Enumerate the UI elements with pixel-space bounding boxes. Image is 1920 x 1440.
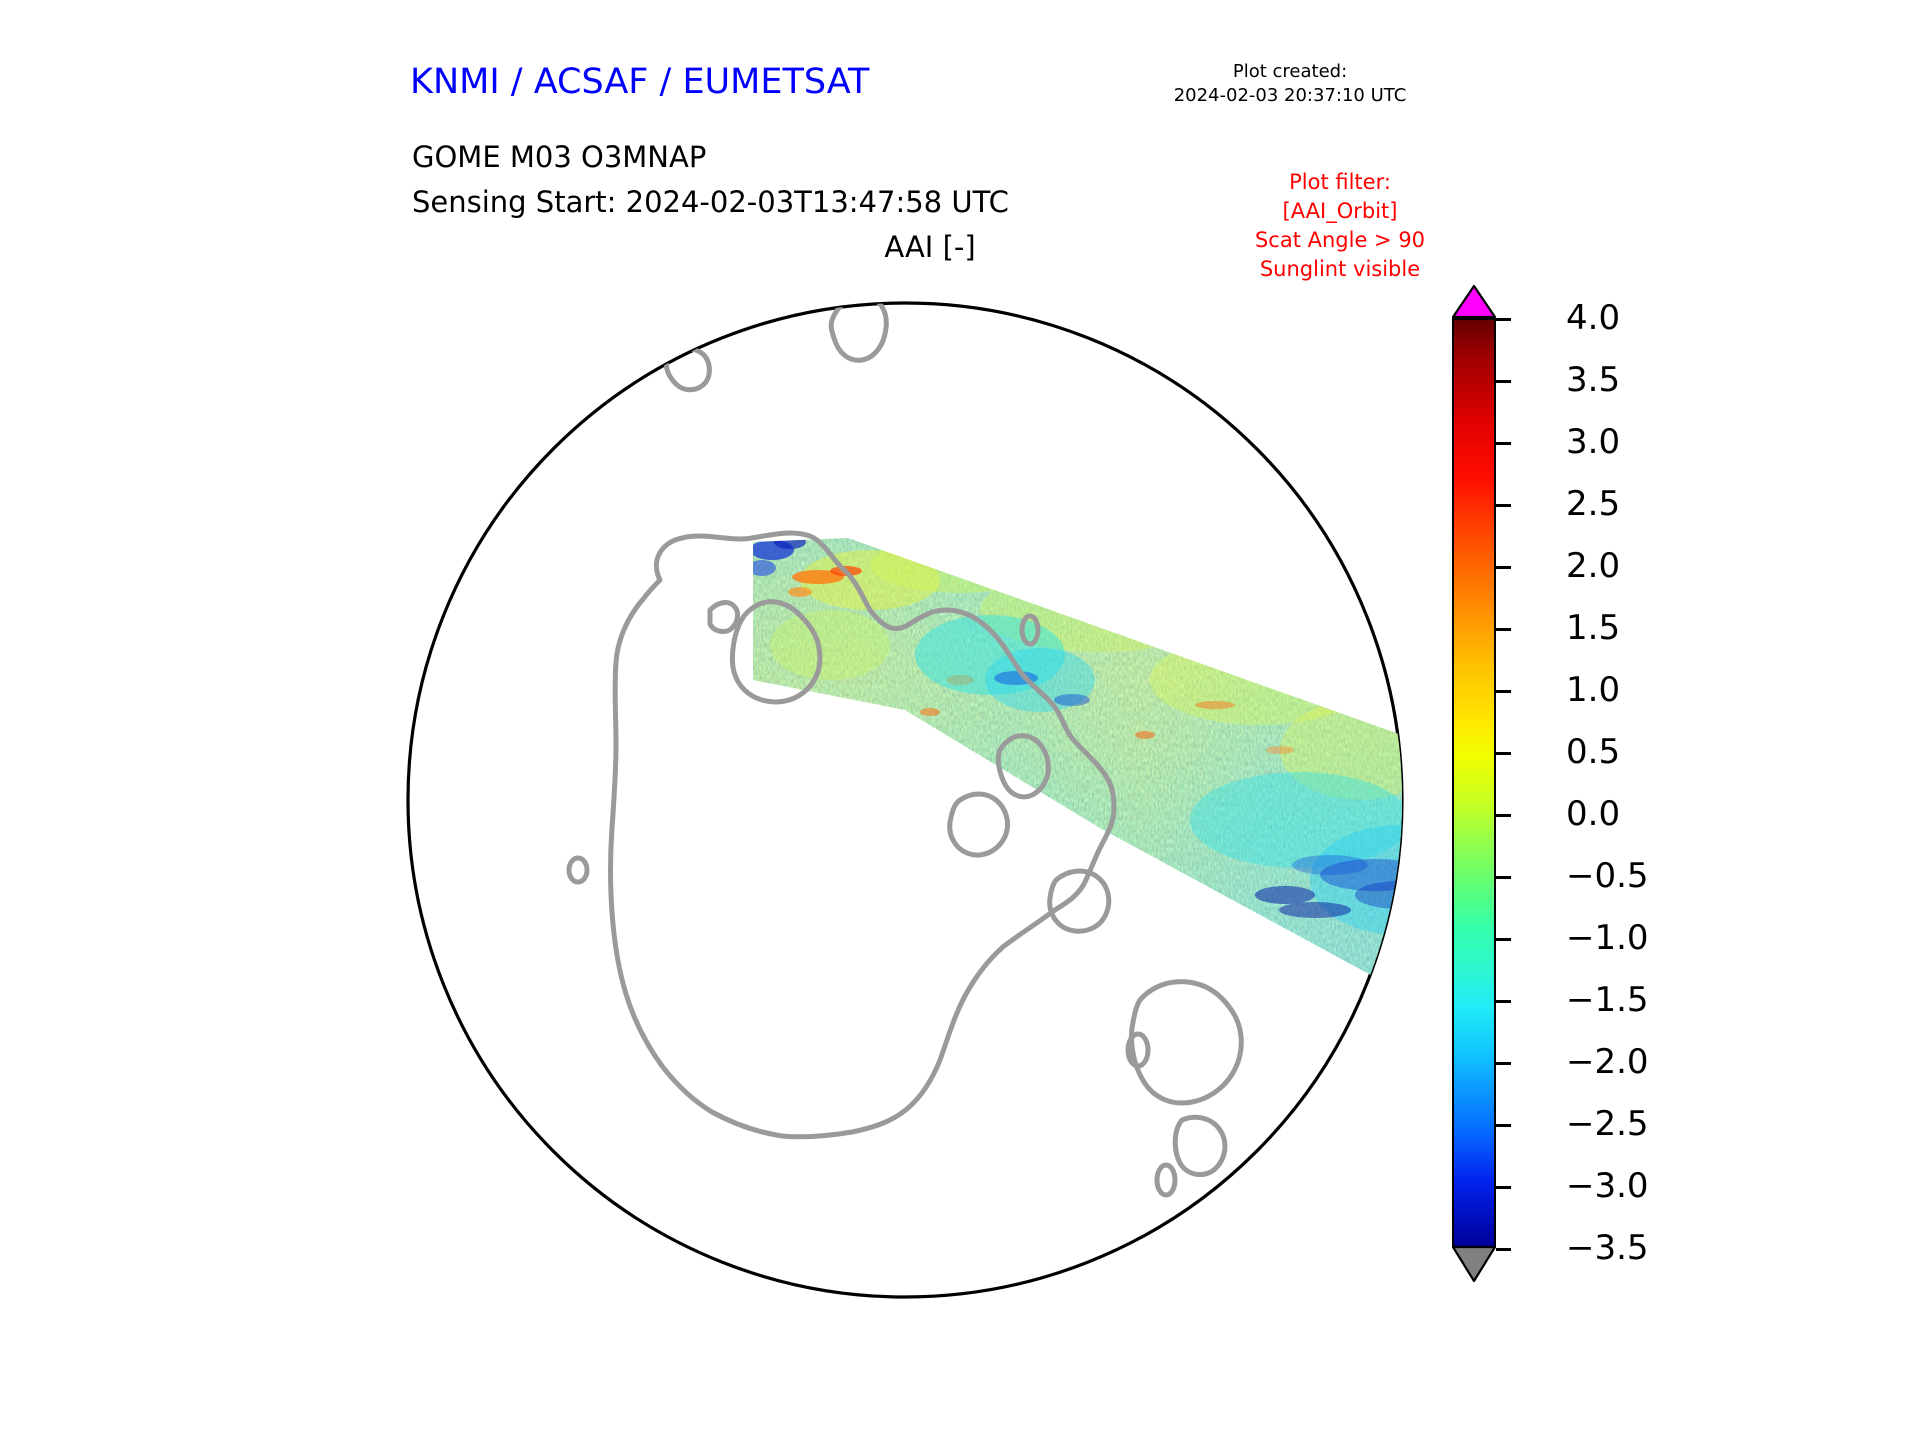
colorbar-tick-label: −3.5 (1566, 1228, 1649, 1268)
colorbar-tick-label: 0.5 (1566, 732, 1620, 772)
colorbar-under-arrow (1452, 1245, 1496, 1282)
colorbar-tick (1496, 1124, 1511, 1127)
colorbar-tick-label: 2.5 (1566, 484, 1620, 524)
plot-created-timestamp: 2024-02-03 20:37:10 UTC (1100, 84, 1480, 108)
colorbar-tick (1496, 752, 1511, 755)
plot-filter-line-2: Scat Angle > 90 (1160, 226, 1520, 255)
quantity-title: AAI [-] (620, 230, 1240, 264)
colorbar-tick (1496, 814, 1511, 817)
colorbar: 4.03.53.02.52.01.51.00.50.0−0.5−1.0−1.5−… (1452, 285, 1882, 1315)
plot-page: KNMI / ACSAF / EUMETSAT Plot created: 20… (0, 0, 1920, 1440)
colorbar-tick (1496, 566, 1511, 569)
colorbar-tick (1496, 380, 1511, 383)
colorbar-tick-label: 4.0 (1566, 298, 1620, 338)
colorbar-tick (1496, 1186, 1511, 1189)
colorbar-tick-label: −2.5 (1566, 1104, 1649, 1144)
colorbar-tick (1496, 504, 1511, 507)
plot-filter-line-1: [AAI_Orbit] (1160, 197, 1520, 226)
colorbar-tick-label: 1.5 (1566, 608, 1620, 648)
plot-created-label: Plot created: (1100, 60, 1480, 84)
colorbar-tick (1496, 1000, 1511, 1003)
agency-title: KNMI / ACSAF / EUMETSAT (410, 62, 869, 102)
plot-created-block: Plot created: 2024-02-03 20:37:10 UTC (1100, 60, 1480, 109)
colorbar-tick-label: 0.0 (1566, 794, 1620, 834)
colorbar-tick-label: 1.0 (1566, 670, 1620, 710)
colorbar-tick (1496, 1062, 1511, 1065)
colorbar-tick-label: −2.0 (1566, 1042, 1649, 1082)
colorbar-tick-label: 3.0 (1566, 422, 1620, 462)
plot-filter-block: Plot filter: [AAI_Orbit] Scat Angle > 90… (1160, 168, 1520, 284)
product-title: GOME M03 O3MNAP (412, 140, 706, 174)
colorbar-tick-label: −1.5 (1566, 980, 1649, 1020)
colorbar-tick-label: 3.5 (1566, 360, 1620, 400)
colorbar-gradient (1452, 318, 1496, 1248)
map-svg (400, 280, 1410, 1320)
colorbar-tick (1496, 442, 1511, 445)
colorbar-tick-label: −0.5 (1566, 856, 1649, 896)
colorbar-tick (1496, 318, 1511, 321)
colorbar-tick (1496, 876, 1511, 879)
colorbar-ticks: 4.03.53.02.52.01.51.00.50.0−0.5−1.0−1.5−… (1496, 318, 1516, 1248)
plot-filter-line-0: Plot filter: (1160, 168, 1520, 197)
colorbar-over-arrow (1452, 285, 1496, 318)
map-canvas (400, 280, 1410, 1320)
colorbar-tick (1496, 690, 1511, 693)
colorbar-tick (1496, 628, 1511, 631)
colorbar-tick-label: −3.0 (1566, 1166, 1649, 1206)
colorbar-tick-label: 2.0 (1566, 546, 1620, 586)
sensing-start-title: Sensing Start: 2024-02-03T13:47:58 UTC (412, 185, 1009, 219)
colorbar-tick-label: −1.0 (1566, 918, 1649, 958)
colorbar-tick (1496, 938, 1511, 941)
colorbar-tick (1496, 1248, 1511, 1251)
